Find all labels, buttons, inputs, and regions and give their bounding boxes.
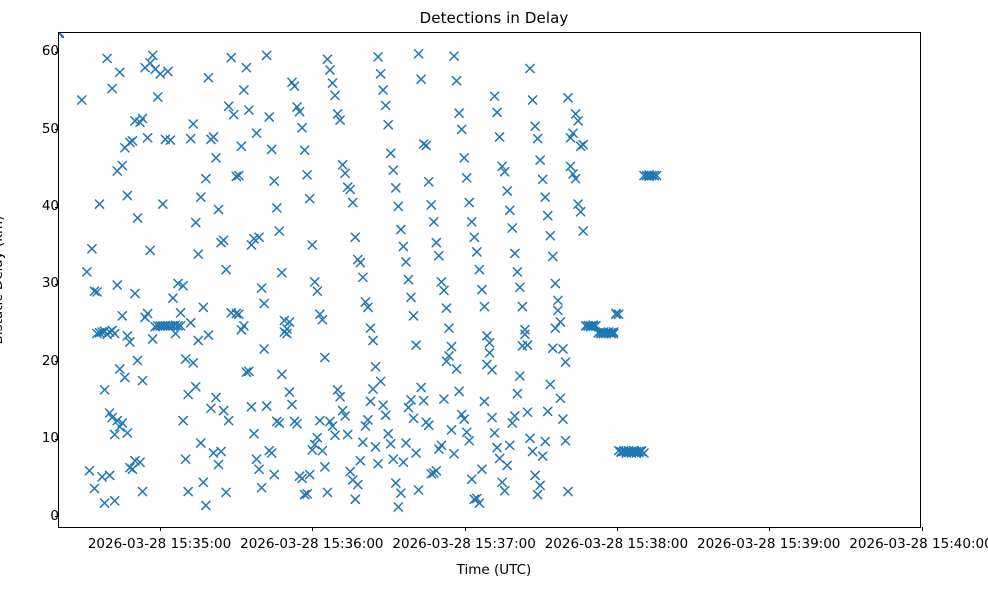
scatter-point	[59, 33, 63, 37]
scatter-point	[493, 444, 501, 452]
scatter-point	[523, 341, 531, 349]
scatter-point	[194, 336, 202, 344]
scatter-point	[321, 353, 329, 361]
scatter-point	[513, 268, 521, 276]
scatter-point	[407, 396, 415, 404]
scatter-point	[377, 70, 385, 78]
scatter-point	[283, 329, 291, 337]
scatter-point	[473, 248, 481, 256]
scatter-point	[164, 67, 172, 75]
scatter-point	[111, 497, 119, 505]
scatter-points-layer	[59, 33, 920, 527]
scatter-point	[197, 439, 205, 447]
scatter-point	[323, 488, 331, 496]
scatter-point	[518, 303, 526, 311]
scatter-point	[336, 393, 344, 401]
scatter-point	[149, 335, 157, 343]
scatter-point	[440, 395, 448, 403]
scatter-point	[501, 487, 509, 495]
scatter-point	[176, 309, 184, 317]
x-tick-label: 2026-03-28 15:38:00	[545, 536, 688, 552]
scatter-point	[417, 75, 425, 83]
x-tick-label: 2026-03-28 15:39:00	[697, 536, 840, 552]
scatter-point	[138, 487, 146, 495]
scatter-point	[354, 481, 362, 489]
scatter-point	[149, 51, 157, 59]
scatter-point	[493, 108, 501, 116]
scatter-point	[78, 96, 86, 104]
scatter-point	[187, 319, 195, 327]
scatter-point	[556, 394, 564, 402]
scatter-point	[392, 184, 400, 192]
scatter-point	[204, 74, 212, 82]
scatter-point	[260, 345, 268, 353]
scatter-point	[528, 96, 536, 104]
scatter-point	[146, 246, 154, 254]
scatter-point	[252, 455, 260, 463]
scatter-point	[432, 239, 440, 247]
scatter-point	[359, 273, 367, 281]
scatter-point	[399, 458, 407, 466]
scatter-point	[260, 299, 268, 307]
scatter-point	[187, 134, 195, 142]
scatter-point	[447, 426, 455, 434]
scatter-point	[384, 121, 392, 129]
scatter-point	[508, 419, 516, 427]
scatter-point	[359, 438, 367, 446]
scatter-point	[255, 465, 263, 473]
scatter-point	[270, 471, 278, 479]
scatter-point	[485, 339, 493, 347]
scatter-point	[202, 501, 210, 509]
scatter-point	[379, 86, 387, 94]
scatter-point	[404, 403, 412, 411]
scatter-point	[166, 136, 174, 144]
scatter-point	[118, 161, 126, 169]
x-tick-mark	[465, 527, 466, 531]
scatter-point	[412, 341, 420, 349]
scatter-point	[508, 224, 516, 232]
scatter-point	[531, 122, 539, 130]
scatter-point	[566, 162, 574, 170]
scatter-point	[268, 145, 276, 153]
scatter-point	[455, 109, 463, 117]
scatter-point	[331, 431, 339, 439]
scatter-point	[377, 377, 385, 385]
scatter-point	[452, 77, 460, 85]
scatter-point	[399, 242, 407, 250]
scatter-point	[516, 372, 524, 380]
scatter-point	[371, 363, 379, 371]
scatter-point	[220, 236, 228, 244]
scatter-point	[478, 286, 486, 294]
scatter-point	[506, 206, 514, 214]
scatter-point	[273, 204, 281, 212]
scatter-point	[579, 141, 587, 149]
scatter-point	[397, 225, 405, 233]
scatter-point	[506, 441, 514, 449]
scatter-point	[263, 402, 271, 410]
scatter-point	[265, 113, 273, 121]
scatter-point	[513, 390, 521, 398]
scatter-point	[404, 276, 412, 284]
y-tick-label: 40	[42, 198, 59, 214]
scatter-point	[480, 303, 488, 311]
scatter-point	[257, 484, 265, 492]
scatter-point	[422, 141, 430, 149]
scatter-point	[227, 54, 235, 62]
scatter-point	[442, 304, 450, 312]
scatter-point	[536, 481, 544, 489]
scatter-point	[179, 417, 187, 425]
x-tick-label: 2026-03-28 15:36:00	[240, 536, 383, 552]
scatter-point	[144, 309, 152, 317]
scatter-point	[539, 452, 547, 460]
y-tick-label: 60	[42, 43, 59, 59]
scatter-point	[554, 296, 562, 304]
scatter-point	[290, 82, 298, 90]
scatter-point	[95, 200, 103, 208]
scatter-point	[212, 393, 220, 401]
scatter-point	[564, 487, 572, 495]
scatter-point	[498, 478, 506, 486]
scatter-point	[268, 449, 276, 457]
x-tick-label: 2026-03-28 15:37:00	[392, 536, 535, 552]
scatter-point	[488, 413, 496, 421]
scatter-point	[100, 499, 108, 507]
scatter-point	[222, 488, 230, 496]
scatter-point	[374, 460, 382, 468]
scatter-point	[534, 134, 542, 142]
scatter-point	[511, 249, 519, 257]
y-tick-label: 0	[50, 508, 59, 524]
scatter-point	[516, 283, 524, 291]
scatter-point	[341, 169, 349, 177]
scatter-point	[184, 390, 192, 398]
scatter-point	[478, 465, 486, 473]
scatter-point	[346, 467, 354, 475]
scatter-point	[214, 460, 222, 468]
scatter-point	[111, 430, 119, 438]
scatter-point	[301, 146, 309, 154]
scatter-point	[306, 195, 314, 203]
scatter-point	[293, 420, 301, 428]
scatter-point	[344, 430, 352, 438]
x-tick-mark	[769, 527, 770, 531]
scatter-point	[551, 279, 559, 287]
scatter-point	[574, 117, 582, 125]
scatter-point	[184, 487, 192, 495]
scatter-point	[541, 193, 549, 201]
scatter-point	[123, 429, 131, 437]
scatter-point	[156, 70, 164, 78]
y-axis-label: Bistatic Delay (km)	[0, 216, 6, 345]
scatter-point	[220, 407, 228, 415]
scatter-point	[450, 52, 458, 60]
scatter-point	[427, 201, 435, 209]
scatter-point	[83, 268, 91, 276]
scatter-point	[326, 66, 334, 74]
scatter-point	[225, 102, 233, 110]
scatter-point	[225, 417, 233, 425]
scatter-point	[316, 417, 324, 425]
scatter-point	[556, 318, 564, 326]
scatter-point	[463, 174, 471, 182]
scatter-point	[222, 266, 230, 274]
scatter-point	[275, 419, 283, 427]
scatter-point	[579, 227, 587, 235]
scatter-point	[311, 278, 319, 286]
scatter-point	[333, 386, 341, 394]
scatter-point	[263, 51, 271, 59]
scatter-point	[425, 178, 433, 186]
scatter-point	[270, 177, 278, 185]
scatter-point	[257, 284, 265, 292]
scatter-point	[452, 365, 460, 373]
scatter-point	[159, 200, 167, 208]
scatter-point	[351, 233, 359, 241]
scatter-point	[128, 137, 136, 145]
scatter-point	[133, 214, 141, 222]
scatter-point	[323, 55, 331, 63]
scatter-point	[351, 495, 359, 503]
scatter-point	[549, 344, 557, 352]
scatter-point	[549, 252, 557, 260]
scatter-point	[121, 373, 129, 381]
scatter-point	[138, 376, 146, 384]
scatter-point	[389, 455, 397, 463]
scatter-point	[123, 192, 131, 200]
scatter-point	[133, 356, 141, 364]
scatter-point	[247, 403, 255, 411]
scatter-point	[463, 428, 471, 436]
y-tick-label: 10	[42, 430, 59, 446]
scatter-point	[285, 388, 293, 396]
scatter-point	[526, 434, 534, 442]
scatter-point	[435, 252, 443, 260]
scatter-point	[169, 294, 177, 302]
scatter-point	[534, 491, 542, 499]
scatter-point	[483, 332, 491, 340]
scatter-point	[288, 400, 296, 408]
scatter-point	[468, 475, 476, 483]
scatter-point	[379, 401, 387, 409]
x-axis-label: Time (UTC)	[0, 562, 988, 578]
scatter-point	[503, 461, 511, 469]
scatter-point	[458, 125, 466, 133]
scatter-point	[369, 336, 377, 344]
scatter-point	[417, 383, 425, 391]
scatter-point	[118, 312, 126, 320]
scatter-point	[447, 343, 455, 351]
scatter-point	[455, 387, 463, 395]
scatter-point	[116, 68, 124, 76]
scatter-point	[546, 380, 554, 388]
scatter-point	[415, 486, 423, 494]
scatter-point	[544, 212, 552, 220]
scatter-point	[146, 59, 154, 67]
scatter-point	[387, 440, 395, 448]
x-tick-mark	[922, 527, 923, 531]
scatter-point	[539, 175, 547, 183]
scatter-point	[488, 366, 496, 374]
scatter-point	[389, 166, 397, 174]
scatter-point	[511, 412, 519, 420]
scatter-point	[480, 397, 488, 405]
scatter-point	[171, 329, 179, 337]
scatter-point	[574, 200, 582, 208]
scatter-point	[536, 156, 544, 164]
scatter-point	[440, 286, 448, 294]
scatter-point	[475, 266, 483, 274]
y-tick-label: 20	[42, 353, 59, 369]
plot-area	[58, 32, 921, 528]
scatter-point	[252, 129, 260, 137]
scatter-point	[394, 202, 402, 210]
scatter-point	[189, 120, 197, 128]
scatter-point	[425, 421, 433, 429]
scatter-point	[397, 489, 405, 497]
scatter-point	[559, 415, 567, 423]
scatter-point	[369, 385, 377, 393]
scatter-point	[182, 455, 190, 463]
scatter-point	[470, 233, 478, 241]
scatter-point	[209, 133, 217, 141]
scatter-point	[113, 281, 121, 289]
x-tick-label: 2026-03-28 15:40:00	[849, 536, 988, 552]
scatter-point	[100, 386, 108, 394]
scatter-point	[544, 407, 552, 415]
scatter-point	[554, 306, 562, 314]
scatter-point	[194, 250, 202, 258]
scatter-point	[217, 447, 225, 455]
scatter-point	[374, 53, 382, 61]
scatter-point	[371, 443, 379, 451]
scatter-point	[197, 193, 205, 201]
scatter-point	[485, 349, 493, 357]
scatter-point	[561, 437, 569, 445]
scatter-point	[387, 149, 395, 157]
scatter-point	[106, 471, 114, 479]
scatter-point	[409, 312, 417, 320]
scatter-point	[460, 154, 468, 162]
scatter-point	[331, 91, 339, 99]
scatter-point	[278, 370, 286, 378]
scatter-point	[242, 64, 250, 72]
scatter-point	[321, 463, 329, 471]
scatter-point	[199, 478, 207, 486]
scatter-point	[468, 218, 476, 226]
scatter-point	[521, 330, 529, 338]
scatter-point	[402, 439, 410, 447]
scatter-point	[415, 50, 423, 58]
scatter-point	[237, 142, 245, 150]
scatter-point	[116, 365, 124, 373]
scatter-point	[402, 258, 410, 266]
scatter-point	[412, 449, 420, 457]
scatter-point	[214, 205, 222, 213]
scatter-point	[407, 293, 415, 301]
scatter-point	[275, 227, 283, 235]
scatter-point	[318, 447, 326, 455]
scatter-point	[230, 111, 238, 119]
scatter-point	[356, 259, 364, 267]
scatter-point	[430, 218, 438, 226]
scatter-point	[437, 278, 445, 286]
scatter-point	[349, 198, 357, 206]
scatter-point	[85, 467, 93, 475]
scatter-point	[523, 408, 531, 416]
scatter-point	[528, 447, 536, 455]
scatter-point	[346, 185, 354, 193]
scatter-point	[490, 429, 498, 437]
scatter-point	[250, 430, 258, 438]
scatter-point	[384, 430, 392, 438]
scatter-point	[298, 124, 306, 132]
scatter-point	[245, 106, 253, 114]
page-title: Detections in Delay	[0, 9, 988, 27]
scatter-point	[496, 133, 504, 141]
y-tick-label: 50	[42, 121, 59, 137]
scatter-point	[503, 187, 511, 195]
x-tick-mark	[160, 527, 161, 531]
scatter-point	[154, 93, 162, 101]
scatter-point	[382, 101, 390, 109]
scatter-point	[559, 345, 567, 353]
scatter-point	[572, 110, 580, 118]
x-tick-mark	[617, 527, 618, 531]
scatter-point	[366, 397, 374, 405]
scatter-point	[541, 437, 549, 445]
scatter-point	[192, 218, 200, 226]
matplotlib-figure: Detections in Delay Bistatic Delay (km) …	[0, 0, 988, 590]
scatter-point	[490, 92, 498, 100]
scatter-point	[204, 331, 212, 339]
scatter-point	[577, 208, 585, 216]
scatter-point	[90, 484, 98, 492]
scatter-point	[88, 245, 96, 253]
scatter-point	[131, 289, 139, 297]
scatter-point	[450, 450, 458, 458]
scatter-point	[531, 471, 539, 479]
scatter-point	[303, 171, 311, 179]
scatter-point	[437, 441, 445, 449]
scatter-point	[409, 414, 417, 422]
scatter-point	[465, 198, 473, 206]
scatter-point	[138, 114, 146, 122]
scatter-point	[199, 303, 207, 311]
scatter-point	[546, 232, 554, 240]
scatter-point	[202, 175, 210, 183]
x-tick-mark	[312, 527, 313, 531]
scatter-point	[356, 457, 364, 465]
y-tick-label: 30	[42, 275, 59, 291]
scatter-point	[394, 503, 402, 511]
scatter-point	[240, 322, 248, 330]
scatter-point	[207, 404, 215, 412]
scatter-point	[564, 94, 572, 102]
x-tick-label: 2026-03-28 15:35:00	[88, 536, 231, 552]
scatter-point	[308, 241, 316, 249]
scatter-point	[313, 434, 321, 442]
scatter-point	[192, 383, 200, 391]
scatter-point	[526, 64, 534, 72]
scatter-point	[328, 79, 336, 87]
scatter-point	[420, 397, 428, 405]
scatter-point	[103, 54, 111, 62]
scatter-point	[283, 325, 291, 333]
scatter-point	[339, 161, 347, 169]
